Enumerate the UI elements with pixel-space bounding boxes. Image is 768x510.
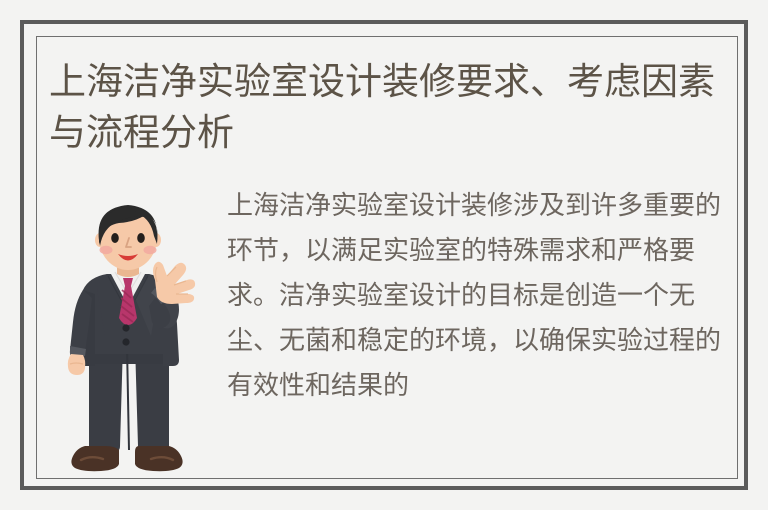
- businessman-presenting-icon: [59, 194, 199, 484]
- card-content: 上海洁净实验室设计装修要求、考虑因素与流程分析: [24, 24, 752, 494]
- article-body-text: 上海洁净实验室设计装修涉及到许多重要的环节，以满足实验室的特殊需求和严格要求。洁…: [227, 184, 729, 409]
- page-title: 上海洁净实验室设计装修要求、考虑因素与流程分析: [49, 56, 741, 158]
- article-body-area: 上海洁净实验室设计装修涉及到许多重要的环节，以满足实验室的特殊需求和严格要求。洁…: [24, 179, 752, 479]
- article-card-page: 上海洁净实验室设计装修要求、考虑因素与流程分析: [0, 0, 768, 510]
- decorative-outer-frame: 上海洁净实验室设计装修要求、考虑因素与流程分析: [20, 20, 748, 490]
